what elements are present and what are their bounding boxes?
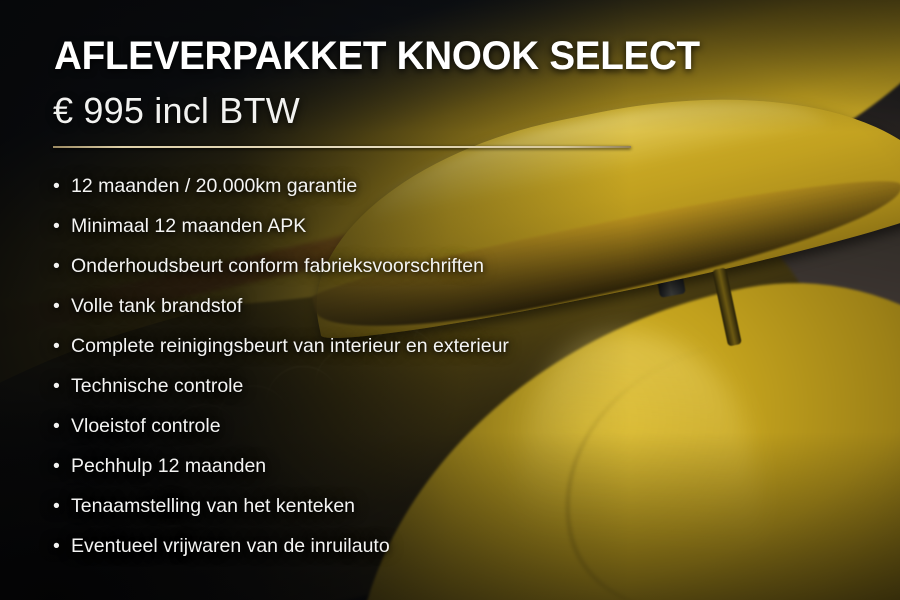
list-item-label: Minimaal 12 maanden APK <box>71 206 306 246</box>
list-item: •Eventueel vrijwaren van de inruilauto <box>53 526 753 566</box>
list-item: •Onderhoudsbeurt conform fabrieksvoorsch… <box>53 246 753 286</box>
page-title: AFLEVERPAKKET KNOOK SELECT <box>54 36 700 76</box>
list-item-label: Pechhulp 12 maanden <box>71 446 266 486</box>
list-item: •Technische controle <box>53 366 753 406</box>
list-item-label: Complete reinigingsbeurt van interieur e… <box>71 326 509 366</box>
bullet-icon: • <box>53 526 71 566</box>
list-item-label: Onderhoudsbeurt conform fabrieksvoorschr… <box>71 246 484 286</box>
gold-divider <box>53 146 631 148</box>
list-item: •Pechhulp 12 maanden <box>53 446 753 486</box>
bullet-icon: • <box>53 166 71 206</box>
bullet-icon: • <box>53 406 71 446</box>
list-item: •Vloeistof controle <box>53 406 753 446</box>
bullet-icon: • <box>53 486 71 526</box>
price-label: € 995 incl BTW <box>53 93 300 129</box>
bullet-icon: • <box>53 246 71 286</box>
list-item-label: 12 maanden / 20.000km garantie <box>71 166 357 206</box>
list-item-label: Volle tank brandstof <box>71 286 242 326</box>
bullet-icon: • <box>53 206 71 246</box>
list-item-label: Eventueel vrijwaren van de inruilauto <box>71 526 390 566</box>
bullet-icon: • <box>53 286 71 326</box>
feature-list: •12 maanden / 20.000km garantie•Minimaal… <box>53 166 753 566</box>
list-item: •Minimaal 12 maanden APK <box>53 206 753 246</box>
list-item: •Complete reinigingsbeurt van interieur … <box>53 326 753 366</box>
list-item: •12 maanden / 20.000km garantie <box>53 166 753 206</box>
list-item-label: Vloeistof controle <box>71 406 221 446</box>
banner-content: AFLEVERPAKKET KNOOK SELECT € 995 incl BT… <box>0 0 900 600</box>
bullet-icon: • <box>53 326 71 366</box>
banner-canvas: AFLEVERPAKKET KNOOK SELECT € 995 incl BT… <box>0 0 900 600</box>
bullet-icon: • <box>53 366 71 406</box>
list-item: •Volle tank brandstof <box>53 286 753 326</box>
list-item-label: Tenaamstelling van het kenteken <box>71 486 355 526</box>
list-item-label: Technische controle <box>71 366 243 406</box>
list-item: •Tenaamstelling van het kenteken <box>53 486 753 526</box>
bullet-icon: • <box>53 446 71 486</box>
